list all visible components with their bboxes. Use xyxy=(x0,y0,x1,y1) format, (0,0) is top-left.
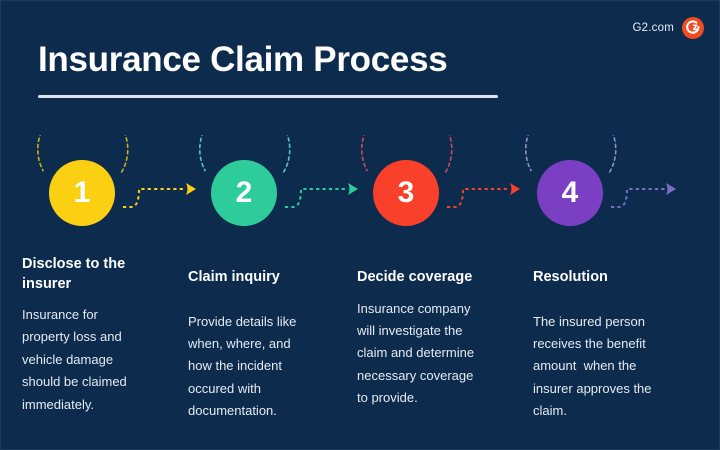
step-column-4: Resolution The insured person receives t… xyxy=(533,268,698,422)
step-body-2: Provide details like when, where, and ho… xyxy=(188,311,340,423)
step-text-columns: Disclose to the insurer Insurance for pr… xyxy=(0,255,720,450)
step-connector-4 xyxy=(611,189,666,207)
step-body-4: The insured person receives the benefit … xyxy=(533,311,698,423)
step-column-1: Disclose to the insurer Insurance for pr… xyxy=(22,255,172,416)
step-circle-1[interactable] xyxy=(49,160,115,226)
step-arrowhead-3 xyxy=(510,183,520,195)
step-arrowhead-1 xyxy=(186,183,196,195)
step-arrowhead-2 xyxy=(348,183,358,195)
step-body-1: Insurance for property loss and vehicle … xyxy=(22,304,172,416)
step-heading-4: Resolution xyxy=(533,268,698,288)
step-heading-3: Decide coverage xyxy=(357,268,507,288)
step-circle-3[interactable] xyxy=(373,160,439,226)
brand-watermark: G2.com xyxy=(633,17,704,39)
brand-label: G2.com xyxy=(633,22,674,34)
step-connector-1 xyxy=(123,189,186,207)
step-heading-2: Claim inquiry xyxy=(188,268,340,288)
infographic-canvas: G2.com Insurance Claim Process 1234 Disc… xyxy=(0,0,720,450)
step-body-3: Insurance company will investigate the c… xyxy=(357,298,507,410)
step-connector-2 xyxy=(285,189,348,207)
step-heading-1: Disclose to the insurer xyxy=(22,255,172,294)
g2-logo-icon xyxy=(682,17,704,39)
step-arrowhead-4 xyxy=(666,183,676,195)
step-column-3: Decide coverage Insurance company will i… xyxy=(357,268,507,409)
step-circle-2[interactable] xyxy=(211,160,277,226)
step-column-2: Claim inquiry Provide details like when,… xyxy=(188,268,340,422)
step-circle-4[interactable] xyxy=(537,160,603,226)
process-steps-graphic xyxy=(0,135,720,255)
title-underline xyxy=(38,95,498,98)
page-title: Insurance Claim Process xyxy=(38,42,447,77)
step-connector-3 xyxy=(447,189,510,207)
